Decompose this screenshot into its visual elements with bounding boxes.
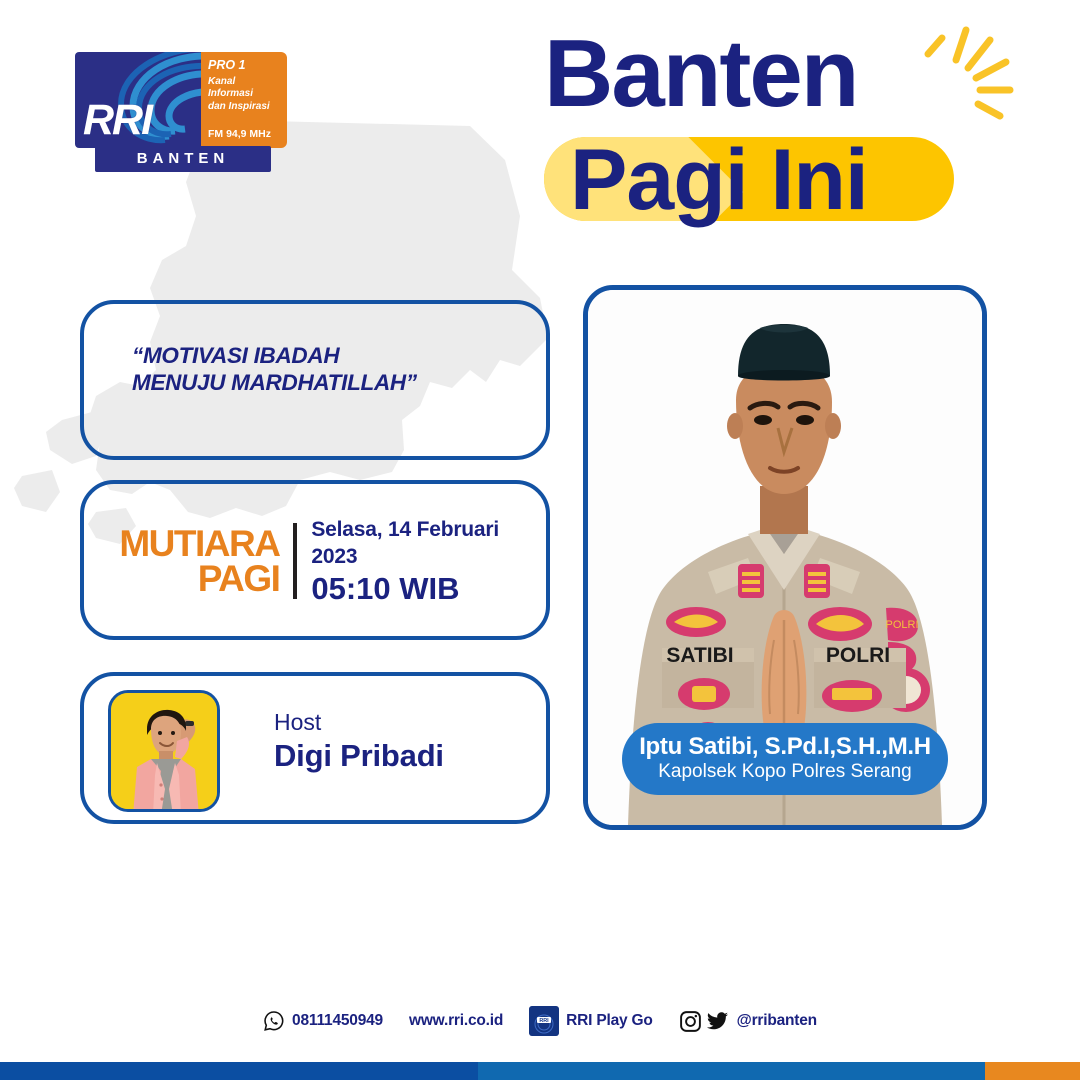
program-headline: Banten Pagi Ini — [536, 24, 1036, 244]
topic-card: “MOTIVASI IBADAH MENUJU MARDHATILLAH” — [80, 300, 550, 460]
schedule-details: Selasa, 14 Februari 2023 05:10 WIB — [311, 516, 546, 606]
guest-photo-frame: POLRI SATIBI POLRI Iptu Satibi, S.Pd.I,S… — [583, 285, 987, 830]
logo-pro-line: PRO 1 — [208, 59, 282, 73]
host-label: Host — [274, 708, 444, 737]
logo-blue-panel: RRI — [75, 52, 201, 148]
footer-whatsapp[interactable]: 08111450949 — [263, 1010, 383, 1032]
footer-website[interactable]: www.rri.co.id — [409, 1012, 503, 1030]
svg-text:SATIBI: SATIBI — [666, 644, 733, 667]
schedule-row: MUTIARA PAGI Selasa, 14 Februari 2023 05… — [98, 516, 546, 606]
whatsapp-number: 08111450949 — [292, 1012, 383, 1030]
whatsapp-icon — [263, 1010, 285, 1032]
segment-name-line-2: PAGI — [98, 561, 279, 597]
logo-tagline-1: Kanal Informasi — [208, 76, 282, 101]
footer-app[interactable]: RRI RRI Play Go — [529, 1006, 653, 1036]
broadcast-time: 05:10 WIB — [311, 571, 546, 607]
footer-contact-bar: 08111450949 www.rri.co.id RRI RRI Play G… — [0, 1000, 1080, 1042]
social-icon-group — [679, 1010, 730, 1033]
bottom-bar-segment-2 — [478, 1062, 985, 1080]
logo-frequency: FM 94,9 MHz — [208, 128, 271, 140]
host-info: Host Digi Pribadi — [274, 708, 444, 776]
svg-text:RRI: RRI — [539, 1018, 549, 1024]
guest-name: Iptu Satibi, S.Pd.I,S.H.,M.H — [639, 733, 931, 761]
broadcast-date: Selasa, 14 Februari 2023 — [311, 516, 546, 571]
schedule-card: MUTIARA PAGI Selasa, 14 Februari 2023 05… — [80, 480, 550, 640]
headline-line-1: Banten — [544, 24, 857, 125]
host-avatar — [108, 690, 220, 812]
headline-line-2: Pagi Ini — [570, 137, 868, 223]
app-name: RRI Play Go — [566, 1012, 653, 1030]
host-card: Host Digi Pribadi — [80, 672, 550, 824]
schedule-divider — [293, 523, 297, 599]
logo-orange-panel: PRO 1 Kanal Informasi dan Inspirasi FM 9… — [201, 52, 287, 148]
bottom-bar-segment-1 — [0, 1062, 478, 1080]
social-handle: @rribanten — [737, 1012, 817, 1030]
segment-name: MUTIARA PAGI — [98, 526, 279, 597]
logo-main-block: RRI PRO 1 Kanal Informasi dan Inspirasi … — [75, 52, 287, 148]
twitter-icon[interactable] — [705, 1010, 730, 1033]
logo-rri-text: RRI — [83, 99, 151, 142]
host-name: Digi Pribadi — [274, 737, 444, 776]
segment-name-line-1: MUTIARA — [98, 526, 279, 562]
bottom-bar-segment-3 — [985, 1062, 1080, 1080]
instagram-icon[interactable] — [679, 1010, 702, 1033]
bottom-color-bar — [0, 1062, 1080, 1080]
website-url: www.rri.co.id — [409, 1012, 503, 1030]
guest-nameplate: Iptu Satibi, S.Pd.I,S.H.,M.H Kapolsek Ko… — [622, 723, 948, 795]
topic-text-block: “MOTIVASI IBADAH MENUJU MARDHATILLAH” — [132, 342, 417, 397]
rri-play-go-icon: RRI — [529, 1006, 559, 1036]
topic-line-2: MENUJU MARDHATILLAH” — [132, 369, 417, 396]
svg-text:POLRI: POLRI — [826, 644, 890, 667]
logo-region-bar: BANTEN — [95, 146, 271, 172]
logo-tagline-2: dan Inspirasi — [208, 101, 282, 114]
sparkle-rays-icon — [906, 16, 1026, 136]
svg-text:POLRI: POLRI — [885, 619, 918, 631]
host-portrait-illustration — [111, 693, 220, 812]
footer-social[interactable]: @rribanten — [679, 1010, 817, 1033]
rri-logo: RRI PRO 1 Kanal Informasi dan Inspirasi … — [75, 52, 287, 172]
guest-role: Kapolsek Kopo Polres Serang — [658, 760, 912, 785]
topic-line-1: “MOTIVASI IBADAH — [132, 342, 417, 369]
